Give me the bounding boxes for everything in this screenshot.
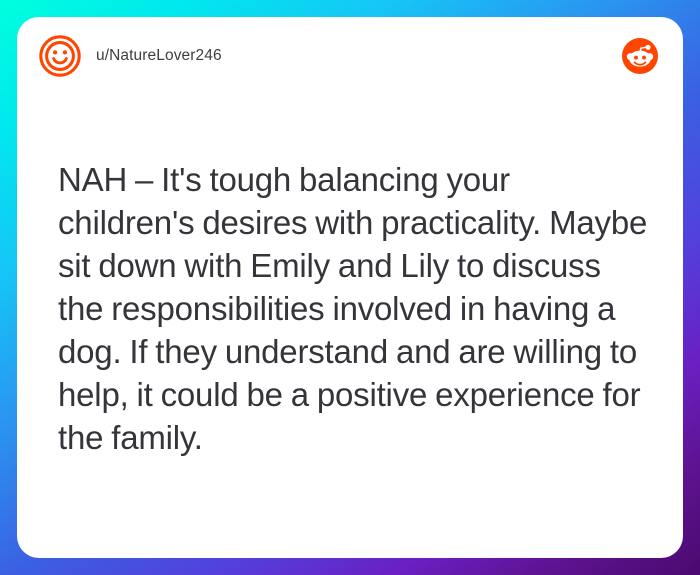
screenshot-root: u/NatureLover246 NAH – It's tough balanc… xyxy=(0,0,700,575)
card-body: NAH – It's tough balancing your children… xyxy=(17,95,683,558)
card-header: u/NatureLover246 xyxy=(17,17,683,95)
username-label: u/NatureLover246 xyxy=(96,47,222,65)
reddit-comment-card: u/NatureLover246 NAH – It's tough balanc… xyxy=(17,17,683,558)
comment-text: NAH – It's tough balancing your children… xyxy=(58,158,653,459)
smiley-face-avatar-icon[interactable] xyxy=(39,35,81,77)
reddit-snoo-icon[interactable] xyxy=(621,37,659,75)
